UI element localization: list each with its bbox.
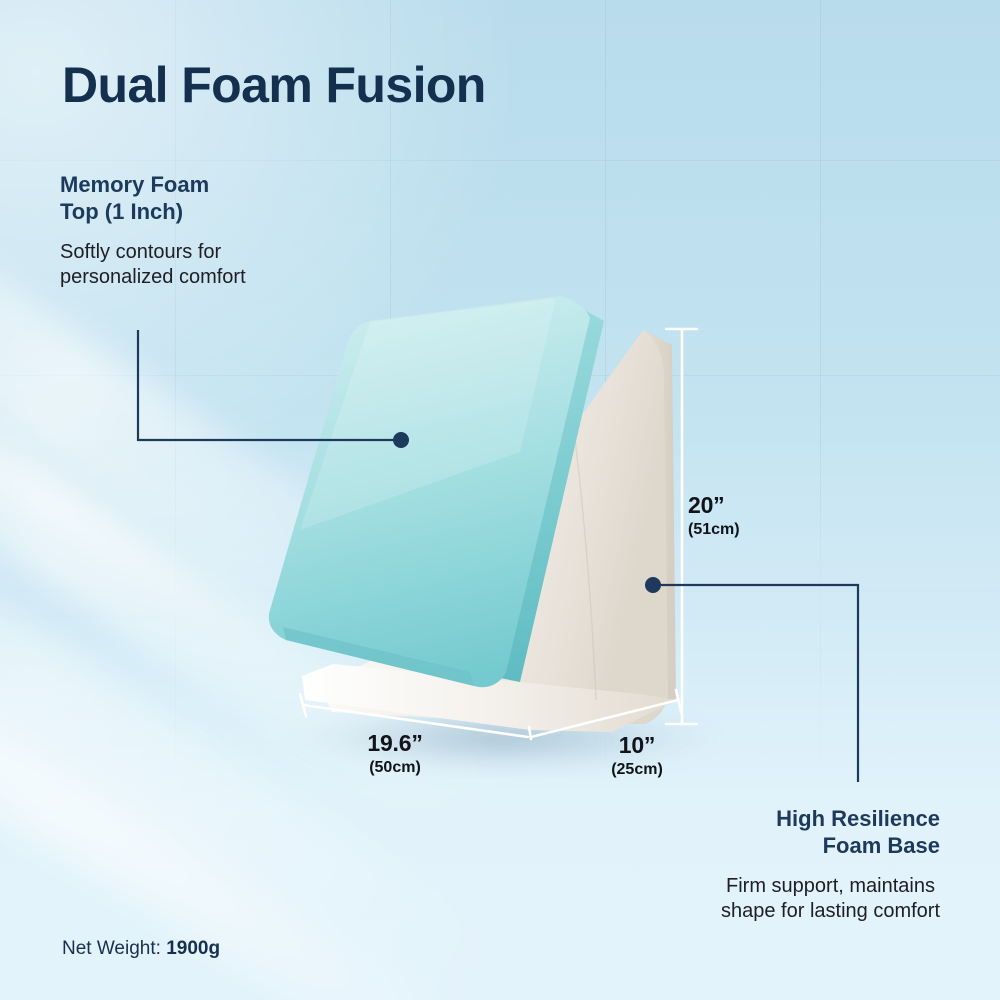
width-inches: 19.6” <box>330 730 460 757</box>
left-callout-dot <box>393 432 409 448</box>
net-weight-value: 1900g <box>166 938 220 959</box>
dimension-label-height: 20” (51cm) <box>688 492 788 539</box>
dimension-label-depth: 10” (25cm) <box>572 732 702 779</box>
height-inches: 20” <box>688 492 788 519</box>
callout-left-heading: Memory Foam Top (1 Inch) <box>60 172 246 226</box>
depth-inches: 10” <box>572 732 702 759</box>
height-metric: (51cm) <box>688 521 788 539</box>
right-callout-dot <box>645 577 661 593</box>
left-leader-line <box>138 330 395 440</box>
callout-right-heading: High Resilience Foam Base <box>721 806 940 860</box>
callout-right-body: Firm support, maintains shape for lastin… <box>721 874 940 924</box>
callout-left-body: Softly contours for personalized comfort <box>60 240 246 290</box>
dimension-label-width: 19.6” (50cm) <box>330 730 460 777</box>
callout-high-resilience-base: High Resilience Foam Base Firm support, … <box>721 806 940 924</box>
page-title: Dual Foam Fusion <box>62 56 486 114</box>
callout-memory-foam-top: Memory Foam Top (1 Inch) Softly contours… <box>60 172 246 290</box>
net-weight: Net Weight: 1900g <box>62 938 220 960</box>
infographic-canvas: Dual Foam Fusion Memory Foam Top (1 Inch… <box>0 0 1000 1000</box>
width-metric: (50cm) <box>330 759 460 777</box>
depth-metric: (25cm) <box>572 761 702 779</box>
net-weight-label: Net Weight: <box>62 938 166 959</box>
